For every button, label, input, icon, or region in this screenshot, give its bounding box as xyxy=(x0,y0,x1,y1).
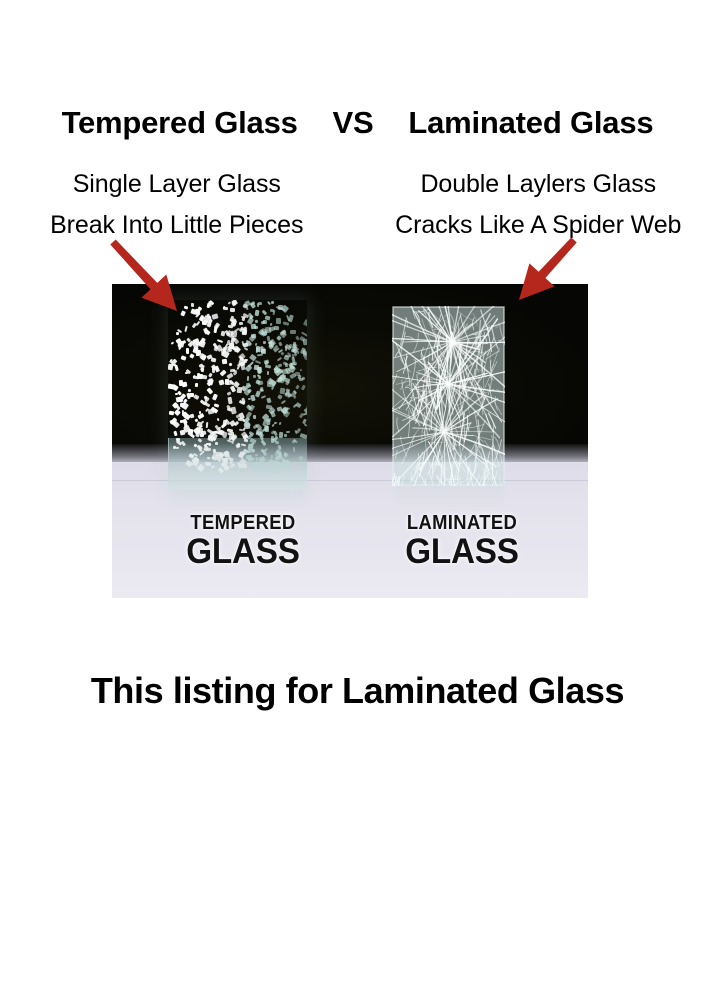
caption-tempered-line-2: Break Into Little Pieces xyxy=(0,205,354,246)
page-title: Tempered Glass VS Laminated Glass xyxy=(0,104,715,142)
photo-label-laminated-bottom: GLASS xyxy=(386,534,538,569)
laminated-glass-panel xyxy=(392,306,505,486)
caption-row: Single Layer Glass Break Into Little Pie… xyxy=(0,164,715,246)
caption-column-tempered: Single Layer Glass Break Into Little Pie… xyxy=(0,164,356,246)
caption-laminated-line-2: Cracks Like A Spider Web xyxy=(362,205,715,246)
caption-column-laminated: Double Laylers Glass Cracks Like A Spide… xyxy=(356,164,715,246)
photo-label-laminated-top: LAMINATED xyxy=(388,513,535,533)
caption-tempered-line-1: Single Layer Glass xyxy=(0,164,354,205)
photo-label-laminated: LAMINATED GLASS xyxy=(382,513,542,569)
laminated-glass-spider-web-cracks xyxy=(392,306,505,486)
title-tempered-glass: Tempered Glass xyxy=(62,105,298,140)
comparison-photo: TEMPERED GLASS LAMINATED GLASS xyxy=(112,284,588,598)
caption-laminated-line-1: Double Laylers Glass xyxy=(362,164,715,205)
photo-label-tempered: TEMPERED GLASS xyxy=(168,513,318,569)
photo-label-tempered-top: TEMPERED xyxy=(174,513,312,533)
title-laminated-glass: Laminated Glass xyxy=(408,105,653,140)
photo-label-tempered-bottom: GLASS xyxy=(172,534,315,569)
tempered-panel-glow xyxy=(168,300,307,490)
listing-note: This listing for Laminated Glass xyxy=(0,668,715,714)
title-versus: VS xyxy=(333,105,374,140)
